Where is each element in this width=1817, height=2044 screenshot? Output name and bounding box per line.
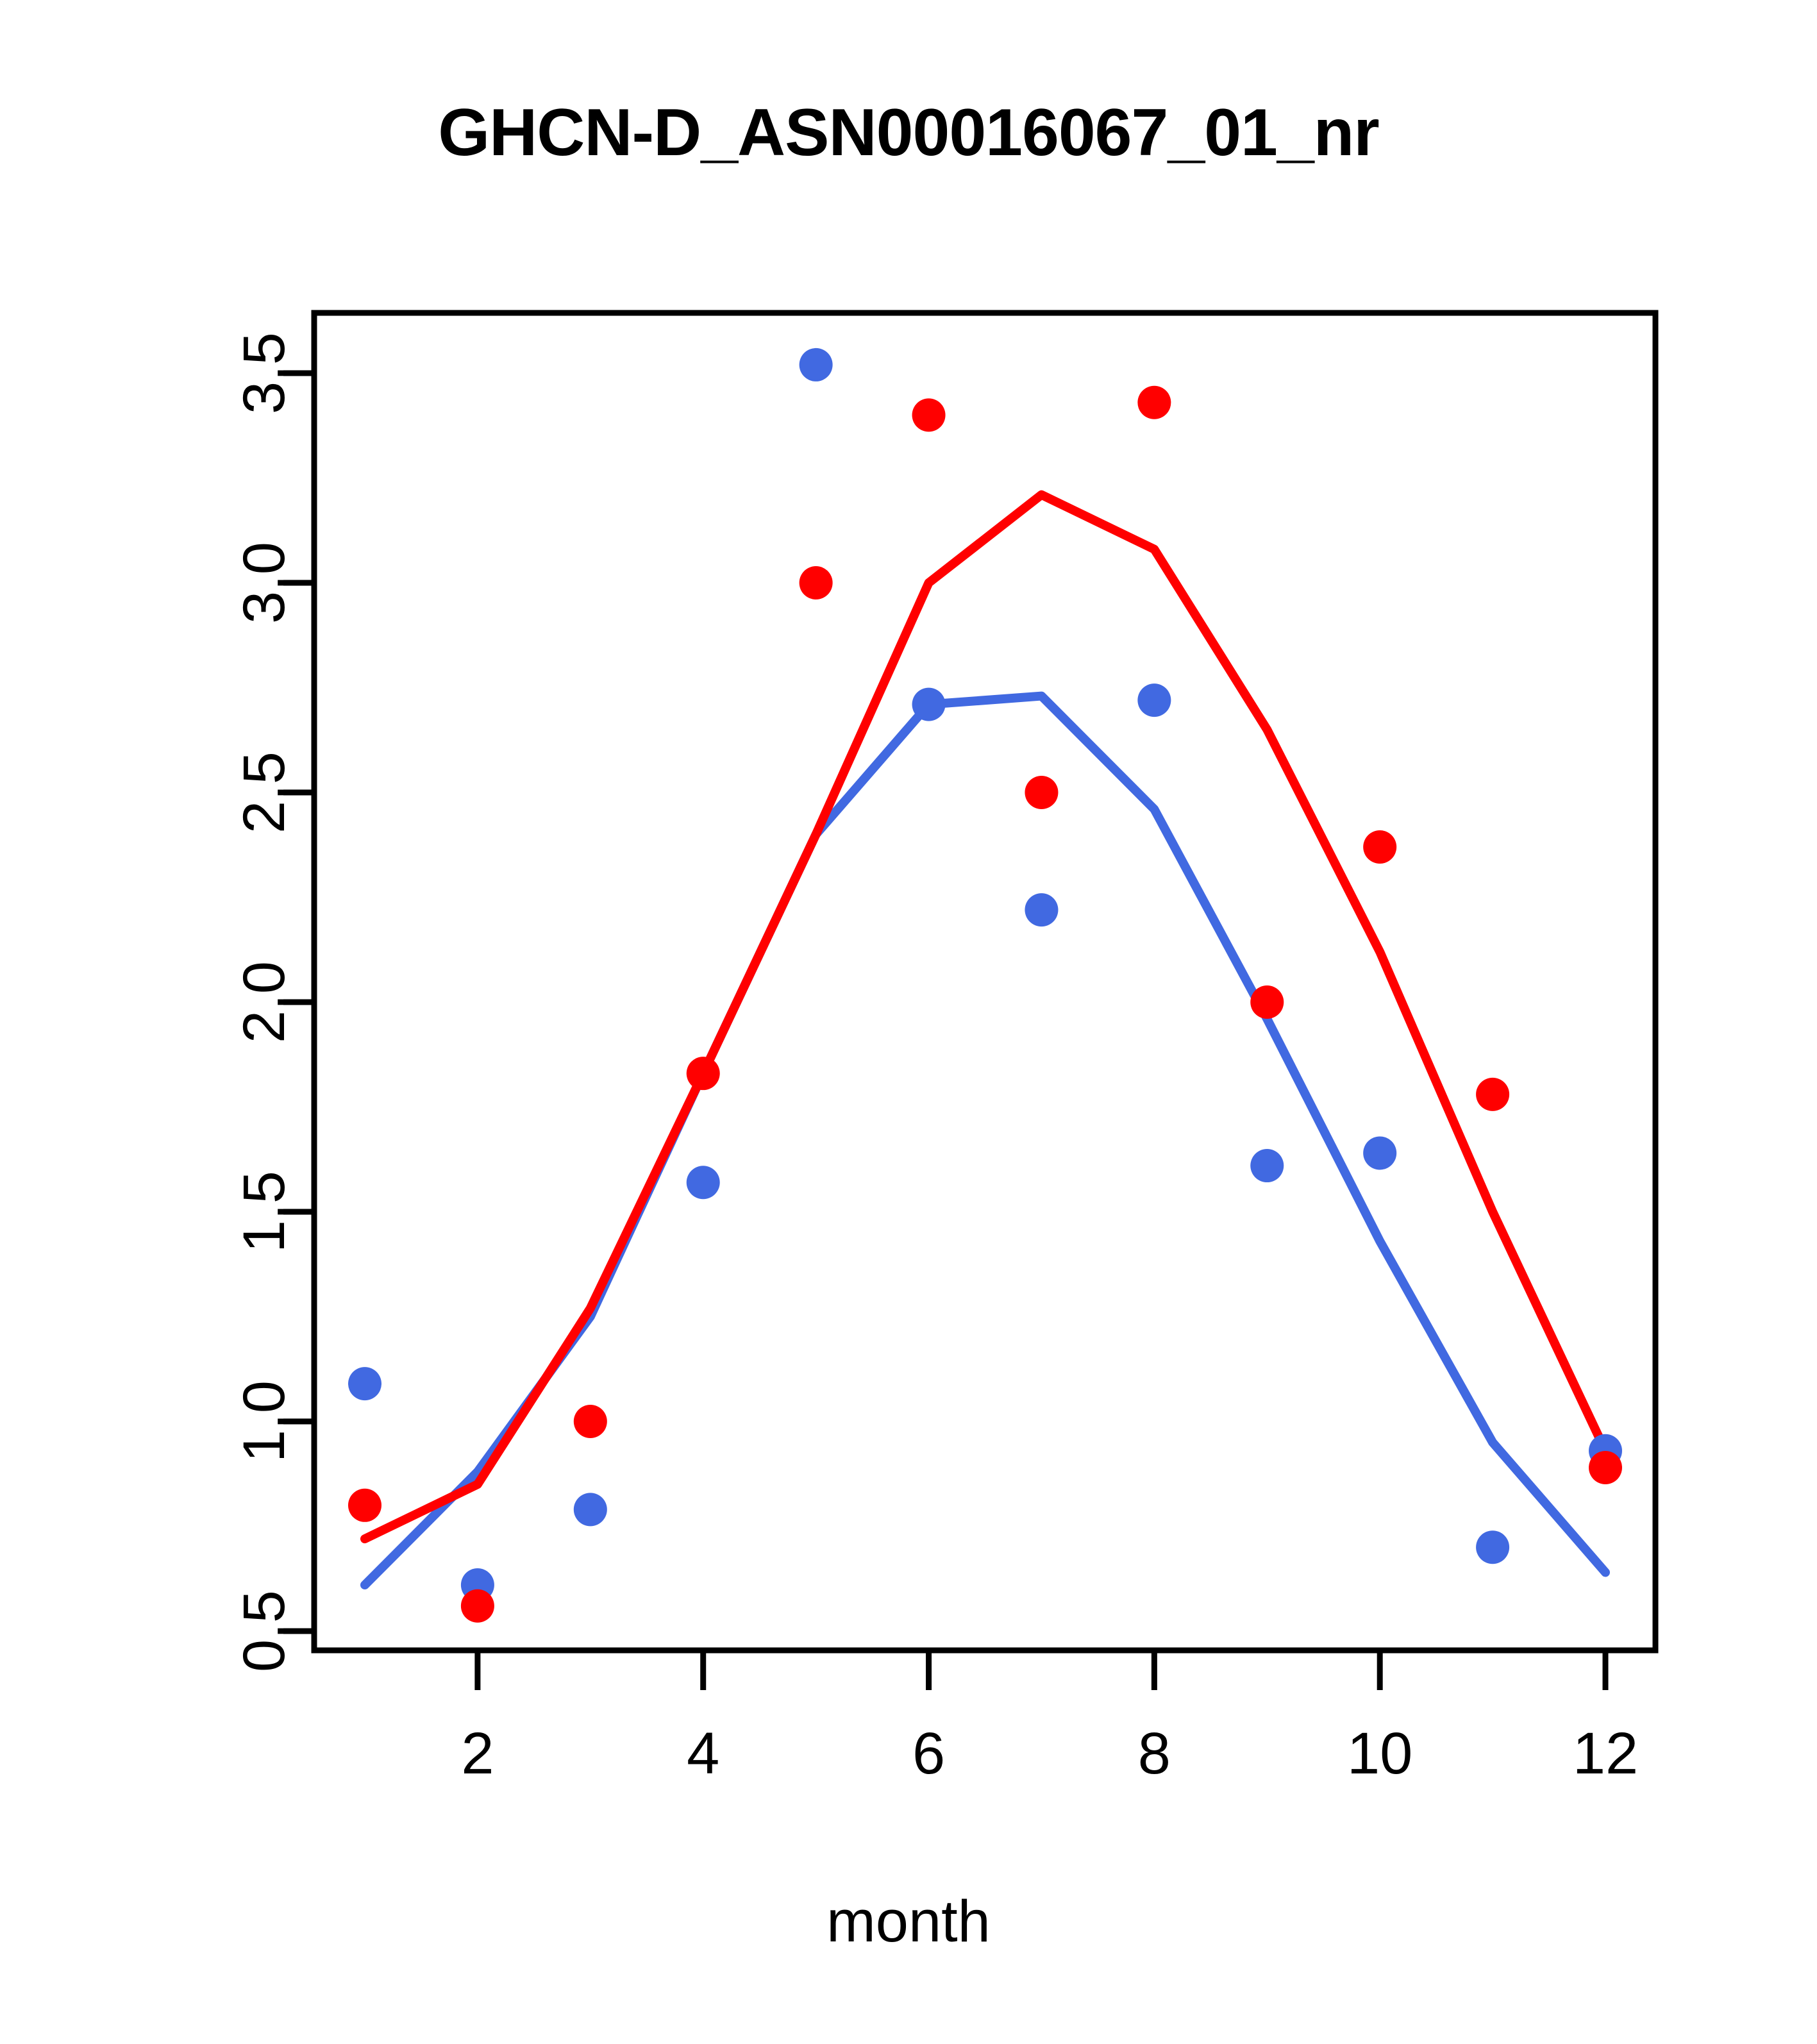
data-point (1025, 776, 1058, 809)
data-point (1025, 893, 1058, 926)
y-axis-tick-label: 2.5 (231, 751, 297, 834)
data-point (1363, 830, 1396, 864)
data-point (1589, 1451, 1622, 1484)
y-axis-tick-label: 1.0 (231, 1380, 297, 1462)
series-line (365, 696, 1605, 1585)
y-axis-tick-label: 0.5 (231, 1590, 297, 1672)
data-point (1137, 683, 1171, 717)
x-axis-tick-label: 4 (687, 1721, 719, 1786)
data-point (800, 566, 833, 599)
data-point (348, 1489, 381, 1522)
data-point (348, 1367, 381, 1400)
data-point (687, 1166, 720, 1199)
data-point (461, 1589, 494, 1623)
x-axis-tick-label: 10 (1347, 1721, 1412, 1786)
scatter-line-plot: 0.51.01.52.02.53.03.524681012 (0, 0, 1817, 2044)
data-point (574, 1493, 607, 1526)
chart-figure: GHCN-D_ASN00016067_01_nr 0.51.01.52.02.5… (0, 0, 1817, 2044)
data-point (800, 348, 833, 381)
data-point (912, 398, 946, 431)
data-point (1476, 1530, 1509, 1564)
data-point (1250, 1149, 1284, 1182)
y-axis-tick-label: 1.5 (231, 1171, 297, 1253)
data-point (574, 1405, 607, 1438)
x-axis-tick-label: 6 (912, 1721, 945, 1786)
series-line (365, 495, 1605, 1539)
y-axis-tick-label: 3.0 (231, 542, 297, 624)
plot-box (314, 313, 1655, 1650)
x-axis-label: month (0, 1888, 1817, 1956)
data-point (687, 1057, 720, 1090)
data-point (1363, 1136, 1396, 1169)
x-axis-tick-label: 2 (461, 1721, 494, 1786)
y-axis-tick-label: 3.5 (231, 332, 297, 414)
data-point (1250, 985, 1284, 1019)
y-axis-tick-label: 2.0 (231, 961, 297, 1043)
x-axis-tick-label: 12 (1573, 1721, 1638, 1786)
x-axis-tick-label: 8 (1138, 1721, 1171, 1786)
data-point (1137, 386, 1171, 419)
data-point (912, 688, 946, 721)
data-point (1476, 1078, 1509, 1111)
